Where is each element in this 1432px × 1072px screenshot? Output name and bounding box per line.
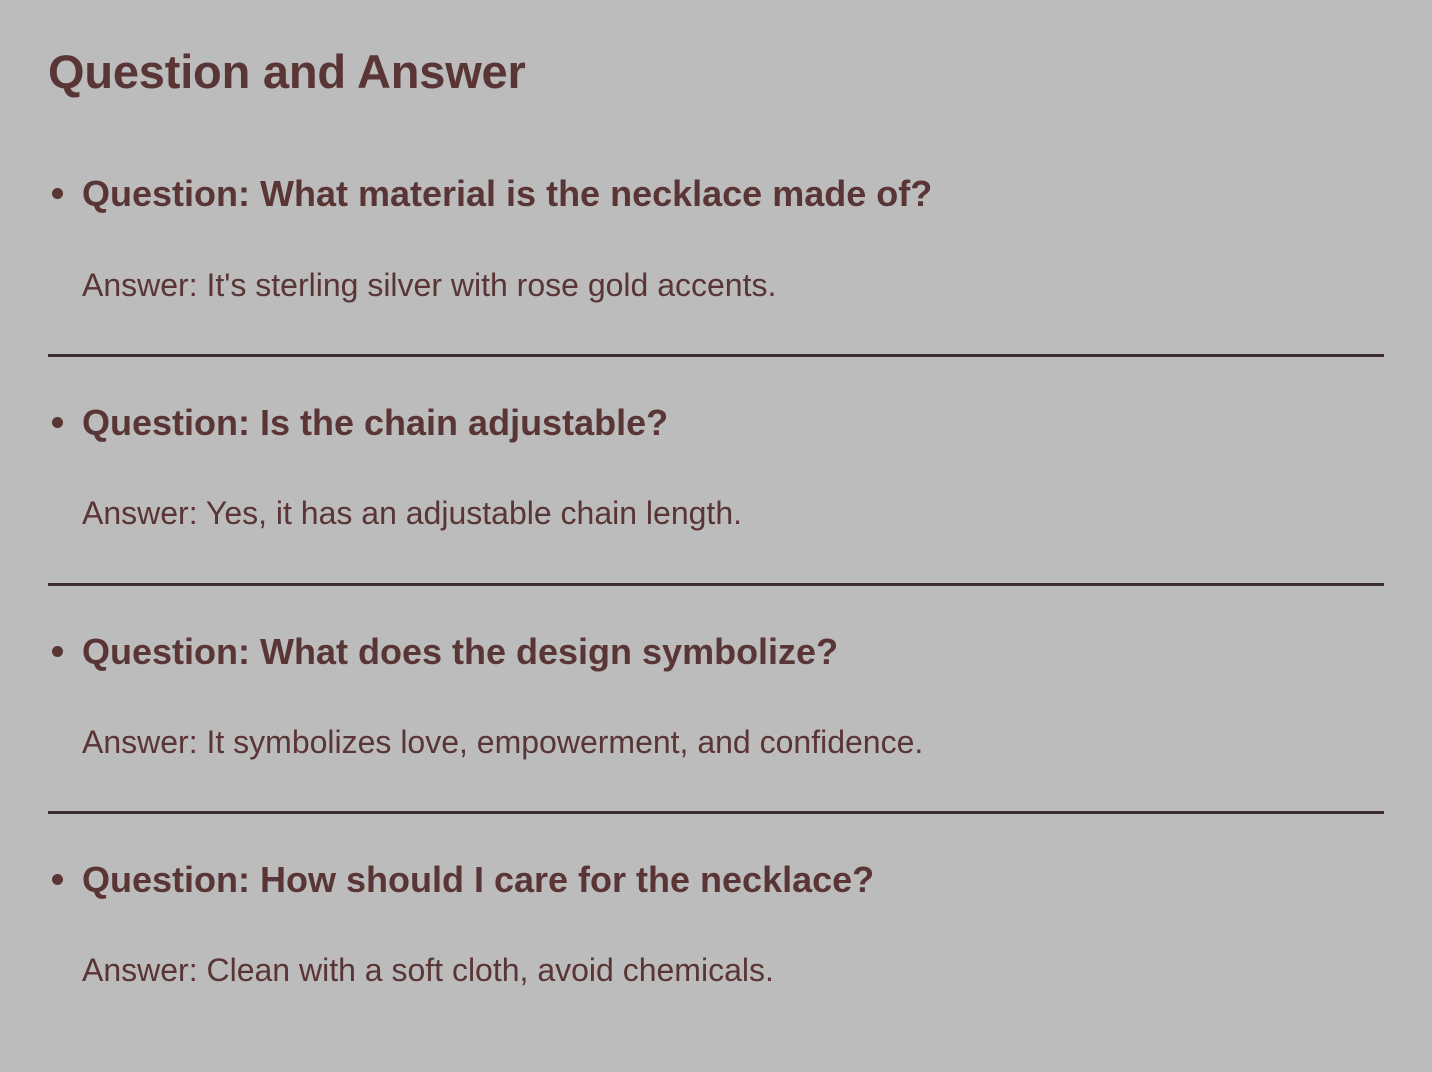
- bullet-dot-icon: [52, 417, 63, 428]
- qa-question-text: Question: Is the chain adjustable?: [82, 401, 1384, 444]
- qa-page: Question and Answer Question: What mater…: [0, 0, 1432, 1072]
- qa-question-row: Question: Is the chain adjustable?: [48, 401, 1384, 444]
- qa-question-text: Question: How should I care for the neck…: [82, 858, 1384, 901]
- qa-list: Question: What material is the necklace …: [48, 99, 1384, 989]
- qa-question-row: Question: What does the design symbolize…: [48, 630, 1384, 673]
- qa-block: Question: How should I care for the neck…: [48, 814, 1384, 990]
- page-title: Question and Answer: [48, 0, 1384, 99]
- qa-question-row: Question: What material is the necklace …: [48, 172, 1384, 215]
- qa-answer-text: Answer: It symbolizes love, empowerment,…: [48, 673, 1384, 761]
- qa-block: Question: Is the chain adjustable? Answe…: [48, 357, 1384, 586]
- qa-answer-text: Answer: Clean with a soft cloth, avoid c…: [48, 901, 1384, 989]
- bullet-dot-icon: [52, 874, 63, 885]
- bullet-dot-icon: [52, 646, 63, 657]
- qa-answer-text: Answer: It's sterling silver with rose g…: [48, 216, 1384, 304]
- qa-block: Question: What material is the necklace …: [48, 99, 1384, 357]
- qa-block: Question: What does the design symbolize…: [48, 586, 1384, 815]
- qa-question-row: Question: How should I care for the neck…: [48, 858, 1384, 901]
- bullet-dot-icon: [52, 188, 63, 199]
- qa-answer-text: Answer: Yes, it has an adjustable chain …: [48, 444, 1384, 532]
- qa-question-text: Question: What material is the necklace …: [82, 172, 1384, 215]
- qa-question-text: Question: What does the design symbolize…: [82, 630, 1384, 673]
